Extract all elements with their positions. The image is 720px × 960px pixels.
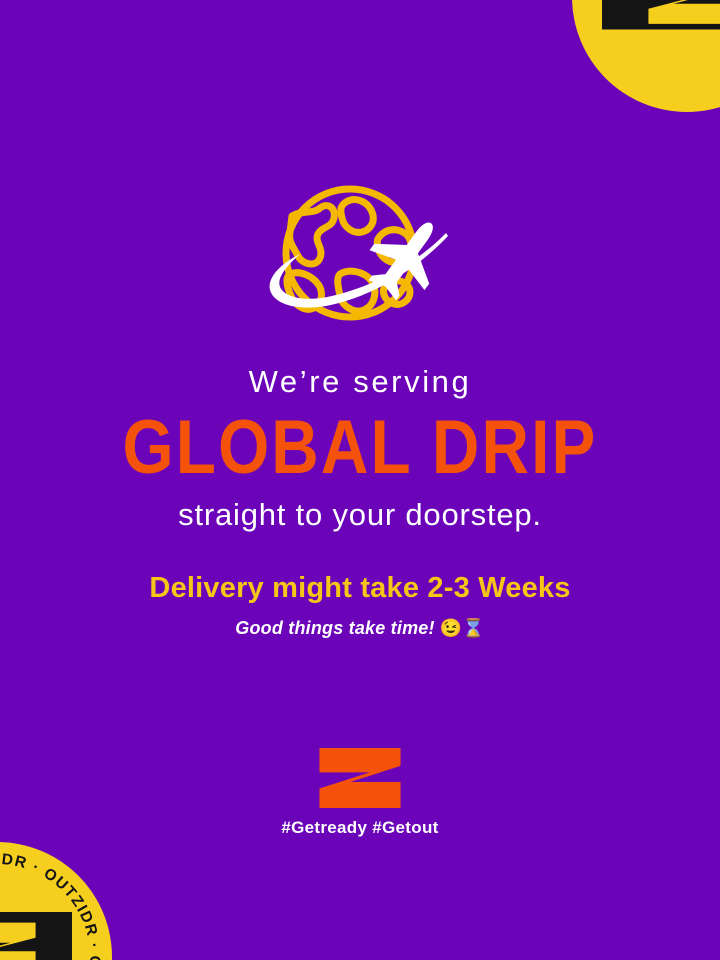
badge-core-plate: OUTZIDR [0,912,72,960]
z-logo-icon [319,748,401,808]
delivery-notice: Delivery might take 2-3 Weeks [0,574,720,603]
tagline-serving: We’re serving [0,366,720,397]
footer-lockup: #Getready #Getout [0,748,720,838]
z-logo-icon [610,0,720,26]
z-logo-icon [0,921,64,960]
wink-hourglass-emoji: 😉⌛ [440,618,485,638]
badge-core-bottom-left: OUTZIDR [0,912,72,960]
globe-airplane-emblem [240,178,480,338]
poster-copy: We’re serving GLOBAL DRIP straight to yo… [0,366,720,637]
hashtags-label: #Getready #Getout [0,818,720,838]
badge-core-top-right [602,0,720,30]
reassurance-note: Good things take time! 😉⌛ [0,619,720,637]
reassurance-text: Good things take time! [235,618,434,638]
badge-core-plate [602,0,720,30]
brand-badge-top-right: OUTZIDR · OUTZIDR · OUTZIDR · OUTZIDR · [572,0,720,112]
brand-badge-bottom-left: OUTZIDR · OUTZIDR · OUTZIDR · OUTZIDR · … [0,842,112,960]
tagline-doorstep: straight to your doorstep. [0,499,720,530]
page-title: GLOBAL DRIP [0,411,720,487]
poster-canvas: OUTZIDR · OUTZIDR · OUTZIDR · OUTZIDR · … [0,0,720,960]
